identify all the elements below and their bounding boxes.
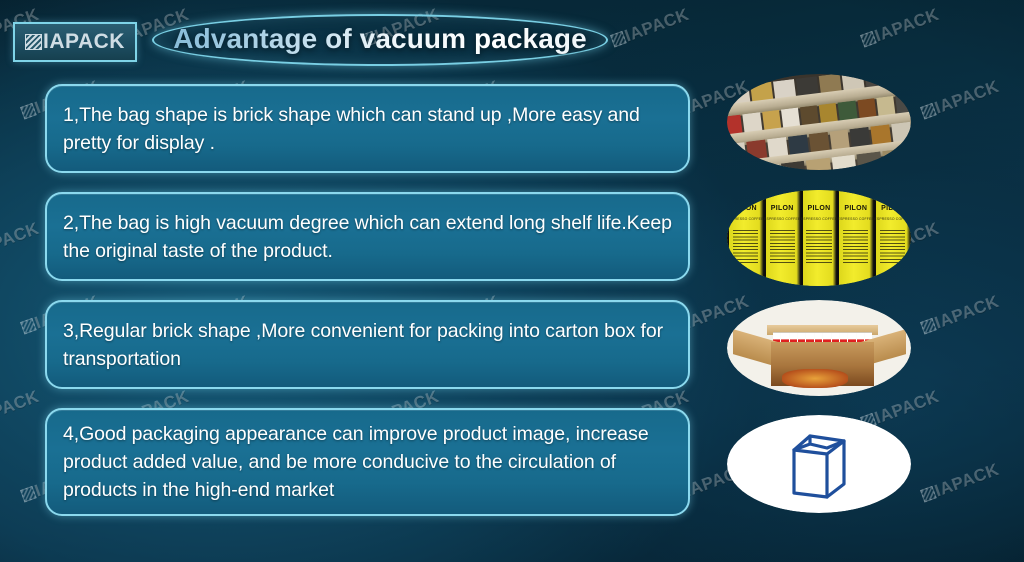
watermark-z-glyph-icon [860,31,877,48]
watermark-label: IAPACK [932,77,1001,118]
advantage-text-3: 3,Regular brick shape ,More convenient f… [63,317,676,373]
brick-bag-icon-canvas [727,415,911,513]
watermark-z-glyph-icon [920,318,937,335]
company-logo[interactable]: IAPACK [13,22,137,62]
pilon-sub-label: ESPRESSO COFFEE [874,217,911,221]
watermark-ziapack: IAPACK [0,387,42,433]
image-pilon-coffee-bricks[interactable]: PILONESPRESSO COFFEE PILONESPRESSO COFFE… [727,190,911,286]
watermark-label: IAPACK [932,460,1001,501]
watermark-z-glyph-icon [20,318,37,335]
pilon-sub-label: ESPRESSO COFFEE [727,217,764,221]
watermark-label: IAPACK [622,5,691,46]
image-brick-bag-icon[interactable] [727,415,911,513]
watermark-z-glyph-icon [920,103,937,120]
image-carton-box[interactable] [727,300,911,396]
watermark-ziapack: IAPACK [919,460,1002,506]
pilon-brand-label: PILON [874,205,911,212]
oval-clip [727,74,911,170]
watermark-label: IAPACK [0,219,42,260]
advantage-item-1[interactable]: 1,The bag shape is brick shape which can… [45,84,690,173]
image-supermarket-shelf[interactable] [727,74,911,170]
watermark-ziapack: IAPACK [609,5,692,51]
page-title: Advantage of vacuum package [152,14,608,66]
watermark-z-glyph-icon [920,486,937,503]
pilon-brand-label: PILON [764,205,801,212]
oval-clip: PILONESPRESSO COFFEE PILONESPRESSO COFFE… [727,190,911,286]
carton-box-art [727,300,911,396]
logo-label: IAPACK [43,30,125,54]
watermark-ziapack: IAPACK [919,77,1002,123]
watermark-z-glyph-icon [20,103,37,120]
pilon-brand-label: PILON [727,205,764,212]
watermark-z-glyph-icon [610,31,627,48]
pilon-sub-label: ESPRESSO COFFEE [837,217,874,221]
oval-clip [727,300,911,396]
logo-text: IAPACK [25,30,125,54]
advantage-item-2[interactable]: 2,The bag is high vacuum degree which ca… [45,192,690,281]
watermark-ziapack: IAPACK [0,219,42,265]
advantage-item-3[interactable]: 3,Regular brick shape ,More convenient f… [45,300,690,389]
pilon-sub-label: ESPRESSO COFFEE [801,217,838,221]
shelf-photo-art [727,74,911,170]
advantage-text-1: 1,The bag shape is brick shape which can… [63,101,676,157]
advantage-text-2: 2,The bag is high vacuum degree which ca… [63,209,676,265]
pilon-brick-art: PILONESPRESSO COFFEE PILONESPRESSO COFFE… [727,190,911,286]
oval-clip [727,415,911,513]
advantage-text-4: 4,Good packaging appearance can improve … [63,420,676,504]
watermark-label: IAPACK [0,387,42,428]
pilon-sub-label: ESPRESSO COFFEE [764,217,801,221]
watermark-ziapack: IAPACK [859,5,942,51]
brick-bag-icon [783,427,855,501]
advantage-item-4[interactable]: 4,Good packaging appearance can improve … [45,408,690,516]
watermark-z-glyph-icon [20,486,37,503]
watermark-label: IAPACK [932,292,1001,333]
pilon-brand-label: PILON [801,205,838,212]
watermark-label: IAPACK [872,5,941,46]
slide-canvas: IAPACK Advantage of vacuum package 1,The… [0,0,1024,562]
title-label: Advantage of vacuum package [152,14,608,66]
pilon-brand-label: PILON [837,205,874,212]
watermark-ziapack: IAPACK [919,292,1002,338]
logo-z-glyph-icon [25,34,42,50]
